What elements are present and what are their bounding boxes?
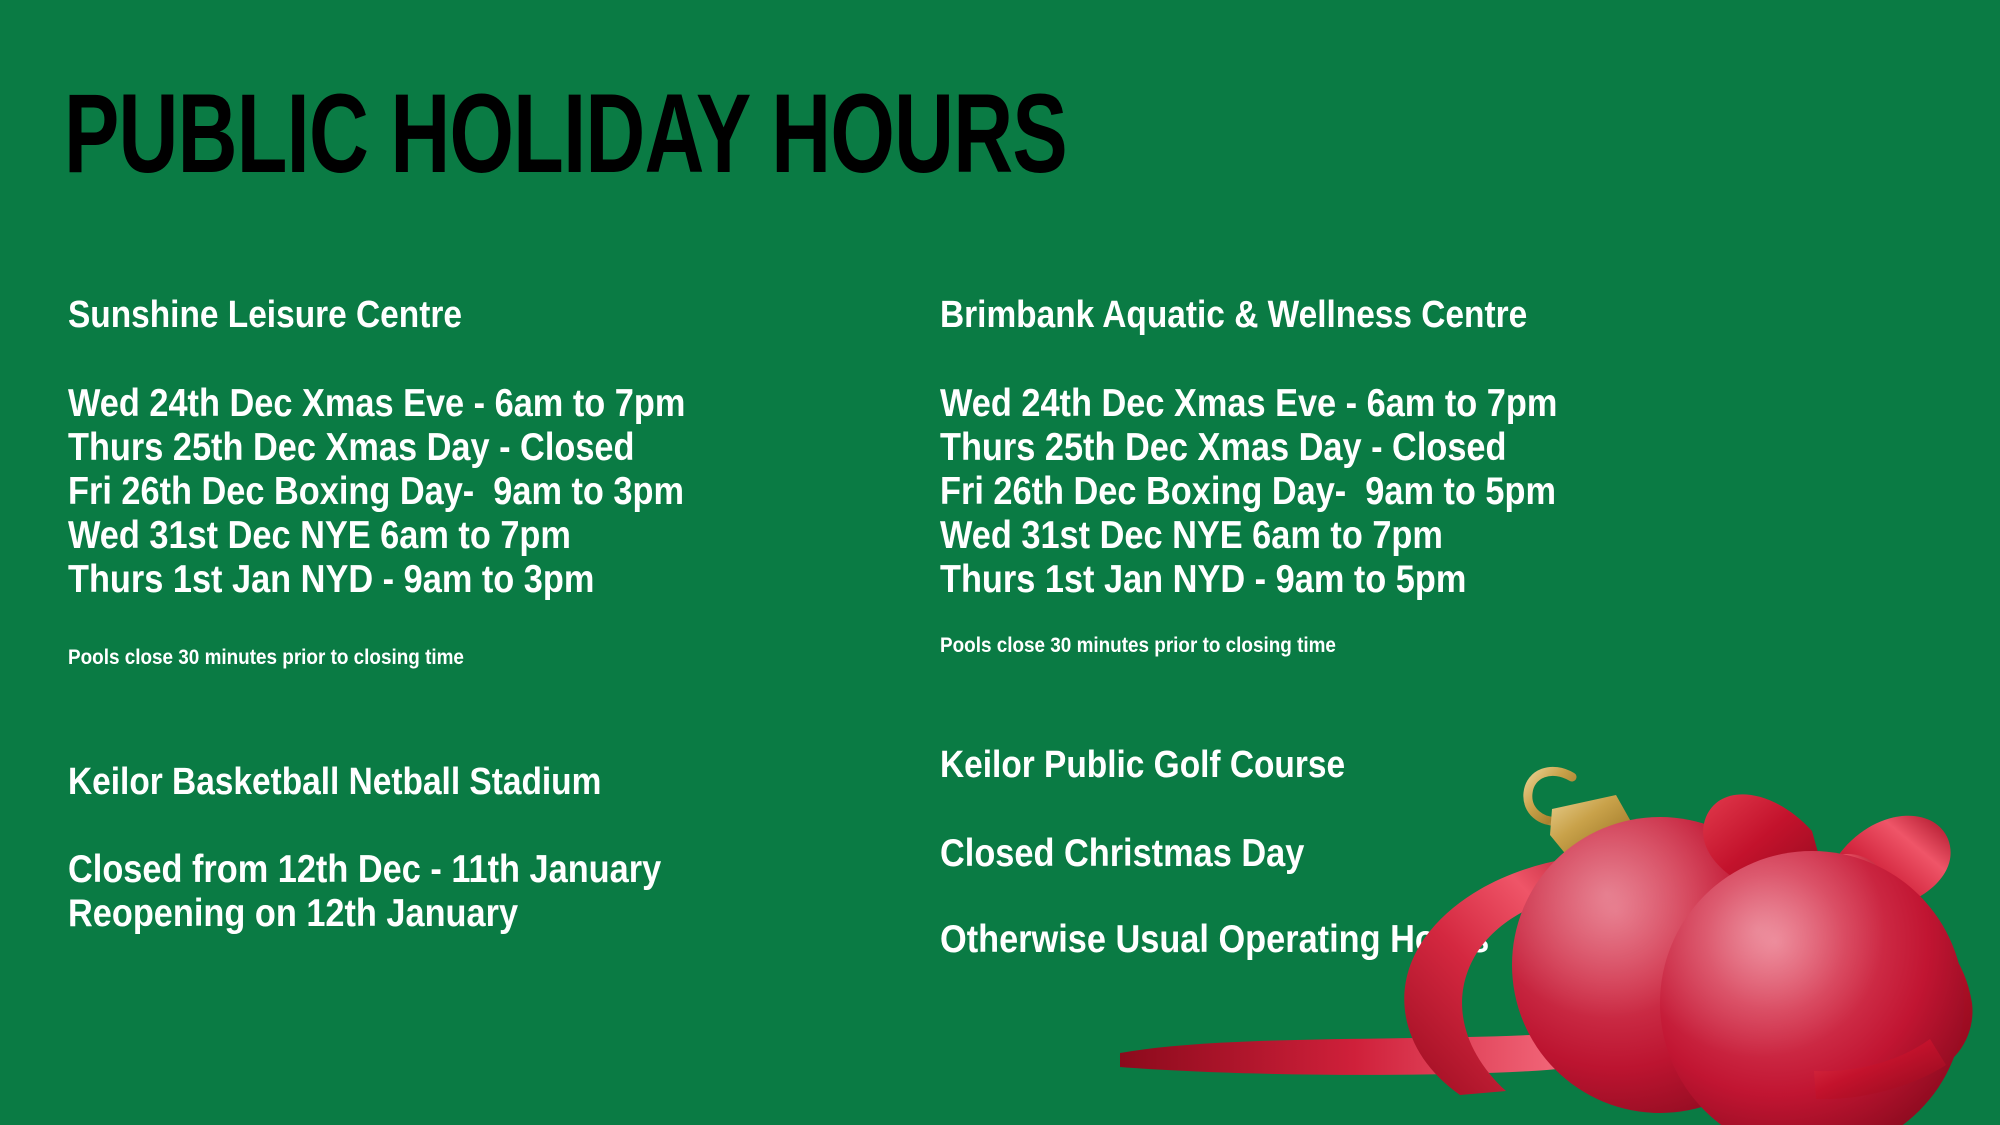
hours-line: Wed 24th Dec Xmas Eve - 6am to 7pm xyxy=(68,382,685,426)
hours-line: Fri 26th Dec Boxing Day- 9am to 3pm xyxy=(68,470,685,514)
venue-block-keilor-public-golf-course: Keilor Public Golf Course xyxy=(940,745,1400,787)
bow-tail-right xyxy=(1864,895,1973,1073)
note-text: Pools close 30 minutes prior to closing … xyxy=(940,633,1336,658)
golf-closed-statement: Closed Christmas Day xyxy=(940,832,1354,876)
ribbon-loop-left xyxy=(1404,855,1626,1095)
hours-line: Wed 24th Dec Xmas Eve - 6am to 7pm xyxy=(940,382,1557,426)
venue-name: Brimbank Aquatic & Wellness Centre xyxy=(940,295,1527,337)
statement-line: Otherwise Usual Operating Hours xyxy=(940,918,1489,962)
pool-closing-note: Pools close 30 minutes prior to closing … xyxy=(940,633,1380,658)
hours-line: Thurs 25th Dec Xmas Day - Closed xyxy=(940,426,1557,470)
ribbon-bow xyxy=(1703,794,1972,1073)
page-title: PUBLIC HOLIDAY HOURS xyxy=(64,78,1067,190)
bauble-back-ball xyxy=(1512,817,1808,1113)
hours-line: Wed 31st Dec NYE 6am to 7pm xyxy=(68,514,685,558)
venue-block-sunshine-leisure-centre: Sunshine Leisure Centre xyxy=(68,295,516,337)
hours-line: Thurs 25th Dec Xmas Day - Closed xyxy=(68,426,685,470)
hours-line: Reopening on 12th January xyxy=(68,892,661,936)
venue-name: Keilor Basketball Netball Stadium xyxy=(68,762,601,804)
bauble-front xyxy=(1660,851,1964,1125)
venue-name: Sunshine Leisure Centre xyxy=(68,295,462,337)
bow-knot xyxy=(1813,854,1883,912)
bow-loop-left xyxy=(1703,794,1826,899)
hours-line: Closed from 12th Dec - 11th January xyxy=(68,848,661,892)
note-text: Pools close 30 minutes prior to closing … xyxy=(68,645,464,670)
bauble-back-hook xyxy=(1528,771,1572,821)
hours-list-keilor-basketball-netball-stadium: Closed from 12th Dec - 11th January Reop… xyxy=(68,848,742,936)
ribbon-front-loop xyxy=(1814,1039,1946,1099)
hours-line: Fri 26th Dec Boxing Day- 9am to 5pm xyxy=(940,470,1557,514)
bauble-front-ball xyxy=(1660,851,1964,1125)
venue-block-keilor-basketball-netball-stadium: Keilor Basketball Netball Stadium xyxy=(68,762,674,804)
hours-list-brimbank-aquatic-wellness-centre: Wed 24th Dec Xmas Eve - 6am to 7pm Thurs… xyxy=(940,382,1642,602)
hours-line: Thurs 1st Jan NYD - 9am to 5pm xyxy=(940,558,1557,602)
hours-list-sunshine-leisure-centre: Wed 24th Dec Xmas Eve - 6am to 7pm Thurs… xyxy=(68,382,770,602)
pool-closing-note: Pools close 30 minutes prior to closing … xyxy=(68,645,508,670)
golf-usual-hours-statement: Otherwise Usual Operating Hours xyxy=(940,918,1564,962)
hours-line: Thurs 1st Jan NYD - 9am to 3pm xyxy=(68,558,685,602)
bow-loop-right xyxy=(1832,816,1951,915)
venue-block-brimbank-aquatic-wellness-centre: Brimbank Aquatic & Wellness Centre xyxy=(940,295,1607,337)
bauble-back-cap xyxy=(1550,795,1634,857)
hours-line: Wed 31st Dec NYE 6am to 7pm xyxy=(940,514,1557,558)
holiday-hours-poster: PUBLIC HOLIDAY HOURS Sunshine Leisure Ce… xyxy=(0,0,2000,1125)
venue-name: Keilor Public Golf Course xyxy=(940,745,1345,787)
statement-line: Closed Christmas Day xyxy=(940,832,1304,876)
bauble-front-cap xyxy=(1752,871,1868,937)
